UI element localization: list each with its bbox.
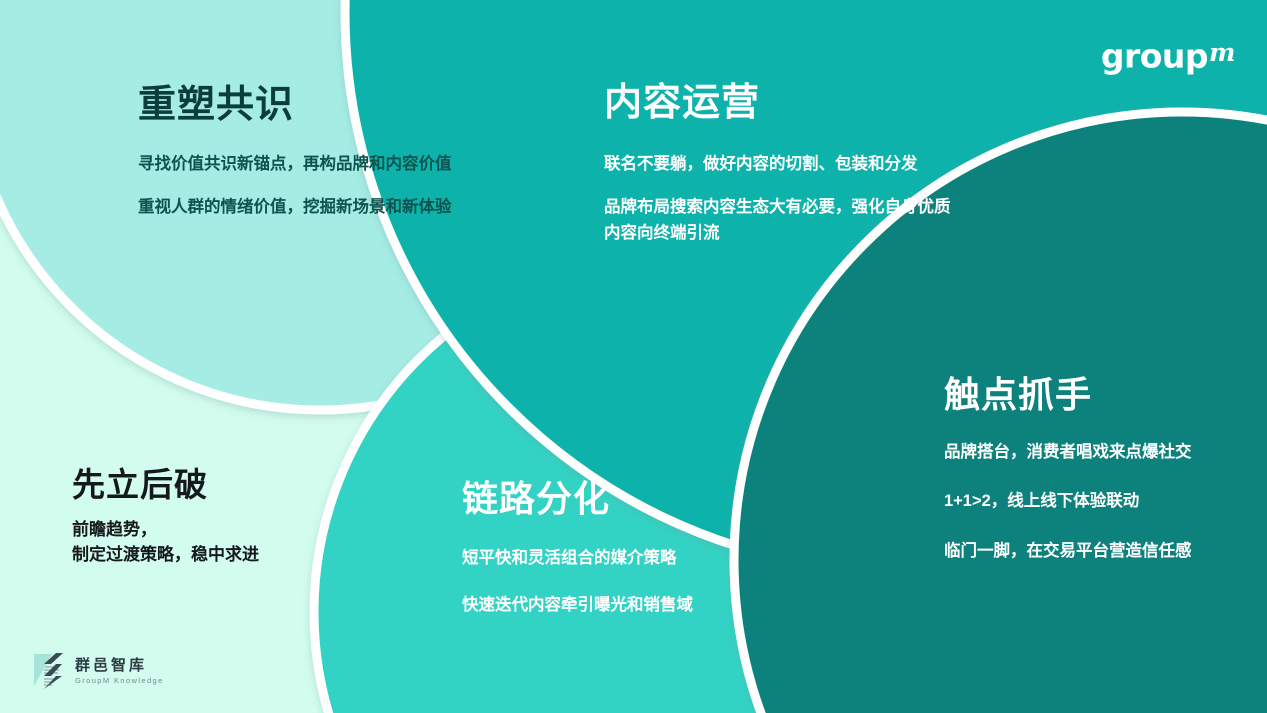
section-heading-content-operations: 内容运营 bbox=[604, 84, 954, 124]
section-touchpoint-handles: 触点抓手 品牌搭台，消费者唱戏来点爆社交 1+1>2，线上线下体验联动 临门一脚… bbox=[944, 376, 1254, 564]
paragraph-spacer bbox=[944, 465, 1254, 489]
knowledge-logo-en: GroupM Knowledge bbox=[75, 677, 164, 685]
paragraph-spacer bbox=[462, 571, 822, 593]
section-heading-build-before-break: 先立后破 bbox=[72, 468, 392, 503]
section-heading-reshape-consensus: 重塑共识 bbox=[138, 86, 488, 126]
section-paragraph: 快速迭代内容牵引曝光和销售域 bbox=[462, 593, 822, 619]
section-paragraph: 制定过渡策略，稳中求进 bbox=[72, 542, 392, 568]
section-paragraph: 临门一脚，在交易平台营造信任感 bbox=[944, 539, 1254, 565]
section-paragraph: 重视人群的情绪价值，挖掘新场景和新体验 bbox=[138, 195, 488, 221]
section-heading-touchpoint-handles: 触点抓手 bbox=[944, 376, 1254, 414]
section-paragraph: 品牌搭台，消费者唱戏来点爆社交 bbox=[944, 440, 1254, 466]
section-build-before-break: 先立后破 前瞻趋势， 制定过渡策略，稳中求进 bbox=[72, 468, 392, 568]
knowledge-logo-cn: 群邑智库 bbox=[75, 658, 164, 673]
section-paragraph: 品牌布局搜索内容生态大有必要，强化自身优质内容向终端引流 bbox=[604, 195, 954, 246]
paragraph-spacer bbox=[138, 177, 488, 195]
slide-canvas: 重塑共识 寻找价值共识新锚点，再构品牌和内容价值 重视人群的情绪价值，挖掘新场景… bbox=[0, 0, 1267, 713]
knowledge-logo-text: 群邑智库 GroupM Knowledge bbox=[75, 657, 164, 685]
section-reshape-consensus: 重塑共识 寻找价值共识新锚点，再构品牌和内容价值 重视人群的情绪价值，挖掘新场景… bbox=[138, 86, 488, 221]
section-heading-path-differentiation: 链路分化 bbox=[462, 480, 822, 518]
groupm-logo-m-icon: m bbox=[1209, 38, 1235, 67]
groupm-logo-word: group bbox=[1101, 36, 1208, 75]
section-paragraph: 短平快和灵活组合的媒介策略 bbox=[462, 546, 822, 572]
section-path-differentiation: 链路分化 短平快和灵活组合的媒介策略 快速迭代内容牵引曝光和销售域 bbox=[462, 480, 822, 619]
section-paragraph: 联名不要躺，做好内容的切割、包装和分发 bbox=[604, 152, 954, 178]
section-paragraph: 寻找价值共识新锚点，再构品牌和内容价值 bbox=[138, 152, 488, 178]
paragraph-spacer bbox=[944, 515, 1254, 539]
knowledge-logo-mark-icon bbox=[32, 650, 68, 692]
section-paragraph: 前瞻趋势， bbox=[72, 517, 392, 543]
groupm-knowledge-logo: 群邑智库 GroupM Knowledge bbox=[32, 650, 164, 692]
section-paragraph: 1+1>2，线上线下体验联动 bbox=[944, 489, 1254, 515]
section-content-operations: 内容运营 联名不要躺，做好内容的切割、包装和分发 品牌布局搜索内容生态大有必要，… bbox=[604, 84, 954, 247]
groupm-logo: groupm bbox=[1101, 33, 1235, 73]
paragraph-spacer bbox=[604, 177, 954, 195]
